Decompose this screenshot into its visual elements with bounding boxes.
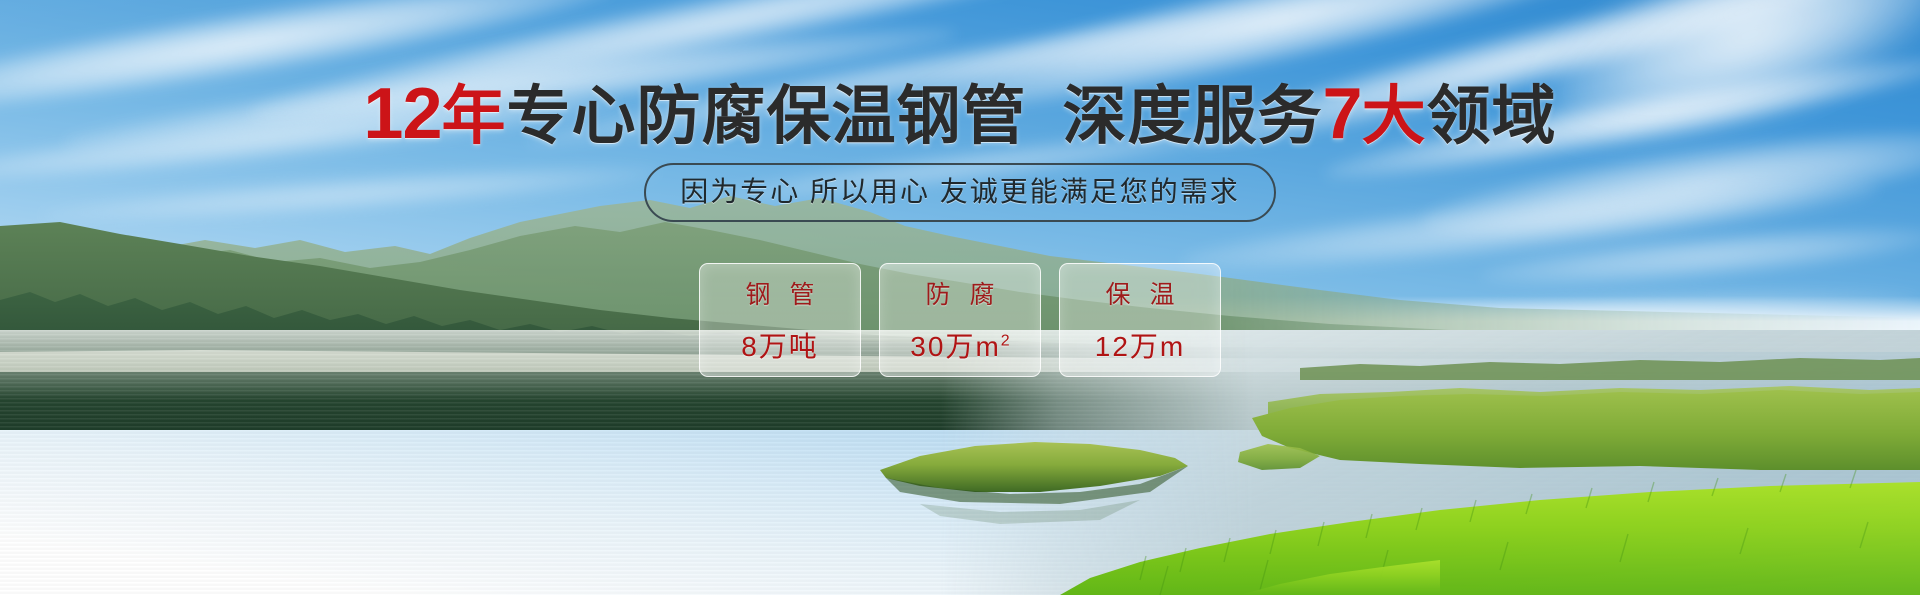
subtitle-pill: 因为专心 所以用心 友诚更能满足您的需求: [644, 163, 1276, 222]
promo-banner: 12年专心防腐保温钢管深度服务7大领域 因为专心 所以用心 友诚更能满足您的需求…: [0, 0, 1920, 595]
stat-card-anticorrosion[interactable]: 防 腐 30万m2: [879, 263, 1041, 377]
headline-fields-text: 领域: [1427, 80, 1557, 152]
stat-card-group: 钢 管 8万吨 防 腐 30万m2 保 温 12万m: [0, 263, 1920, 377]
headline: 12年专心防腐保温钢管深度服务7大领域: [0, 78, 1920, 150]
stat-card-insulation[interactable]: 保 温 12万m: [1059, 263, 1221, 377]
stat-card-value: 30万m2: [910, 325, 1009, 365]
headline-fields-unit: 大: [1362, 80, 1427, 152]
headline-years-unit: 年: [442, 80, 507, 152]
stat-card-value-sup: 2: [1001, 333, 1010, 350]
headline-service-text: 深度服务: [1063, 80, 1323, 152]
stat-card-value: 12万m: [1095, 325, 1185, 365]
headline-years-number: 12: [363, 74, 441, 154]
headline-fields-number: 7: [1323, 74, 1362, 154]
stat-card-steel-pipe[interactable]: 钢 管 8万吨: [699, 263, 861, 377]
stat-card-value-text: 12万m: [1095, 331, 1185, 362]
stat-card-label: 保 温: [1100, 275, 1181, 311]
stat-card-value: 8万吨: [741, 325, 819, 365]
stat-card-label: 防 腐: [920, 275, 1001, 311]
banner-content: 12年专心防腐保温钢管深度服务7大领域 因为专心 所以用心 友诚更能满足您的需求…: [0, 0, 1920, 595]
stat-card-value-text: 30万m: [910, 331, 1000, 362]
headline-main-text: 专心防腐保温钢管: [507, 80, 1027, 152]
stat-card-value-text: 8万吨: [741, 331, 819, 362]
stat-card-label: 钢 管: [740, 275, 821, 311]
subtitle-container: 因为专心 所以用心 友诚更能满足您的需求: [0, 163, 1920, 222]
